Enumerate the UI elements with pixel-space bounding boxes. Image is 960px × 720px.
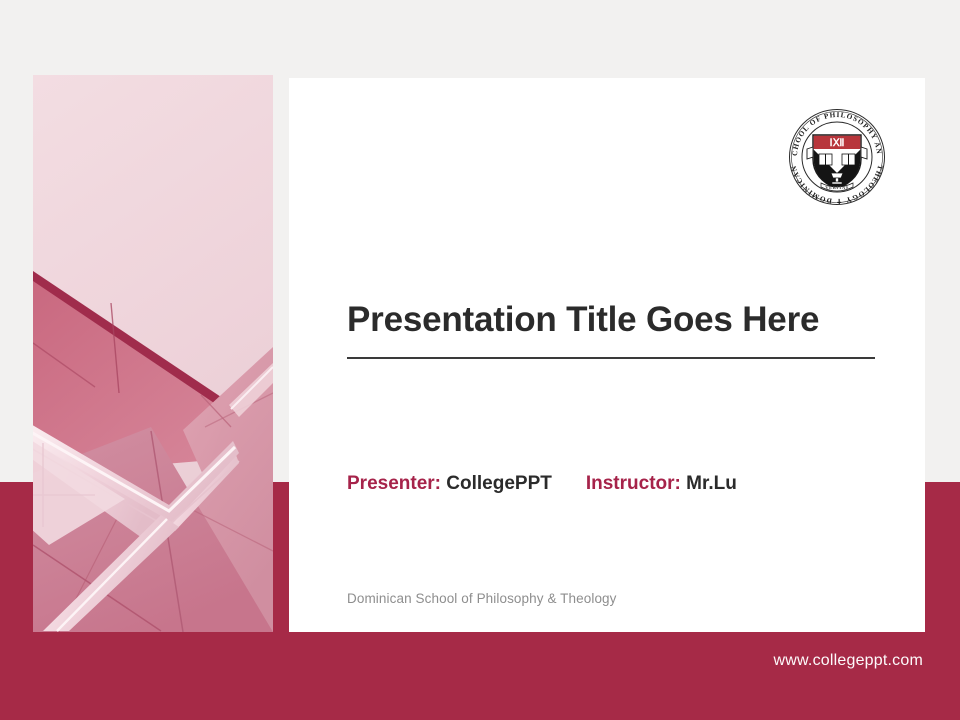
presenter-value: CollegePPT — [446, 473, 552, 494]
pink-architecture-photo — [33, 75, 273, 632]
dominican-school-seal-icon: SCHOOL OF PHILOSOPHY AND THEOLOGY ✝ DOMI… — [785, 105, 889, 209]
institution-footer: Dominican School of Philosophy & Theolog… — [347, 591, 617, 606]
title-divider — [347, 357, 875, 359]
seal-motto: VERITAS — [821, 183, 853, 191]
site-url[interactable]: www.collegeppt.com — [774, 652, 923, 670]
instructor-label: Instructor: — [586, 473, 681, 494]
title-block: Presentation Title Goes Here — [347, 300, 875, 359]
photo-artwork — [33, 75, 273, 632]
seal-book-right — [842, 154, 855, 165]
slide-content-card: SCHOOL OF PHILOSOPHY AND THEOLOGY ✝ DOMI… — [289, 78, 925, 632]
page-title: Presentation Title Goes Here — [347, 300, 875, 340]
presenter-label: Presenter: — [347, 473, 441, 494]
slide-root: SCHOOL OF PHILOSOPHY AND THEOLOGY ✝ DOMI… — [0, 0, 960, 720]
svg-text:VERITAS: VERITAS — [825, 185, 849, 190]
instructor-value: Mr.Lu — [686, 473, 737, 494]
seal-artwork: SCHOOL OF PHILOSOPHY AND THEOLOGY ✝ DOMI… — [785, 105, 889, 209]
seal-shield-initials: ⅠⅫ — [830, 137, 845, 149]
seal-book-left — [819, 154, 832, 165]
byline: Presenter: CollegePPTInstructor: Mr.Lu — [347, 474, 737, 493]
